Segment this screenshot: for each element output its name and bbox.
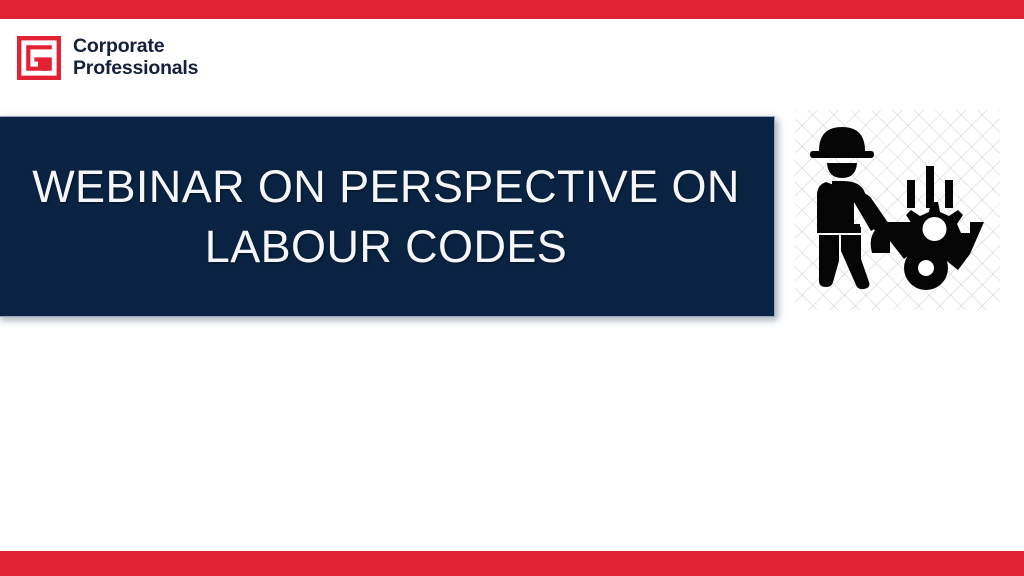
brand-wordmark: Corporate Professionals (73, 36, 198, 80)
corporate-professionals-logo-mark (17, 36, 61, 80)
brand-wordmark-line-1: Corporate (73, 36, 198, 58)
brand-wordmark-line-2: Professionals (73, 58, 198, 80)
top-red-rule (0, 0, 1024, 19)
worker-with-gears-icon (795, 110, 1000, 310)
brand-logo: Corporate Professionals (17, 36, 198, 80)
page-title: WEBINAR ON PERSPECTIVE ON LABOUR CODES (0, 157, 774, 277)
worker-with-gears-glyph (795, 110, 1000, 310)
slide-canvas: Corporate Professionals WEBINAR ON PERSP… (0, 0, 1024, 576)
bottom-red-rule (0, 551, 1024, 576)
title-banner: WEBINAR ON PERSPECTIVE ON LABOUR CODES (0, 116, 775, 317)
